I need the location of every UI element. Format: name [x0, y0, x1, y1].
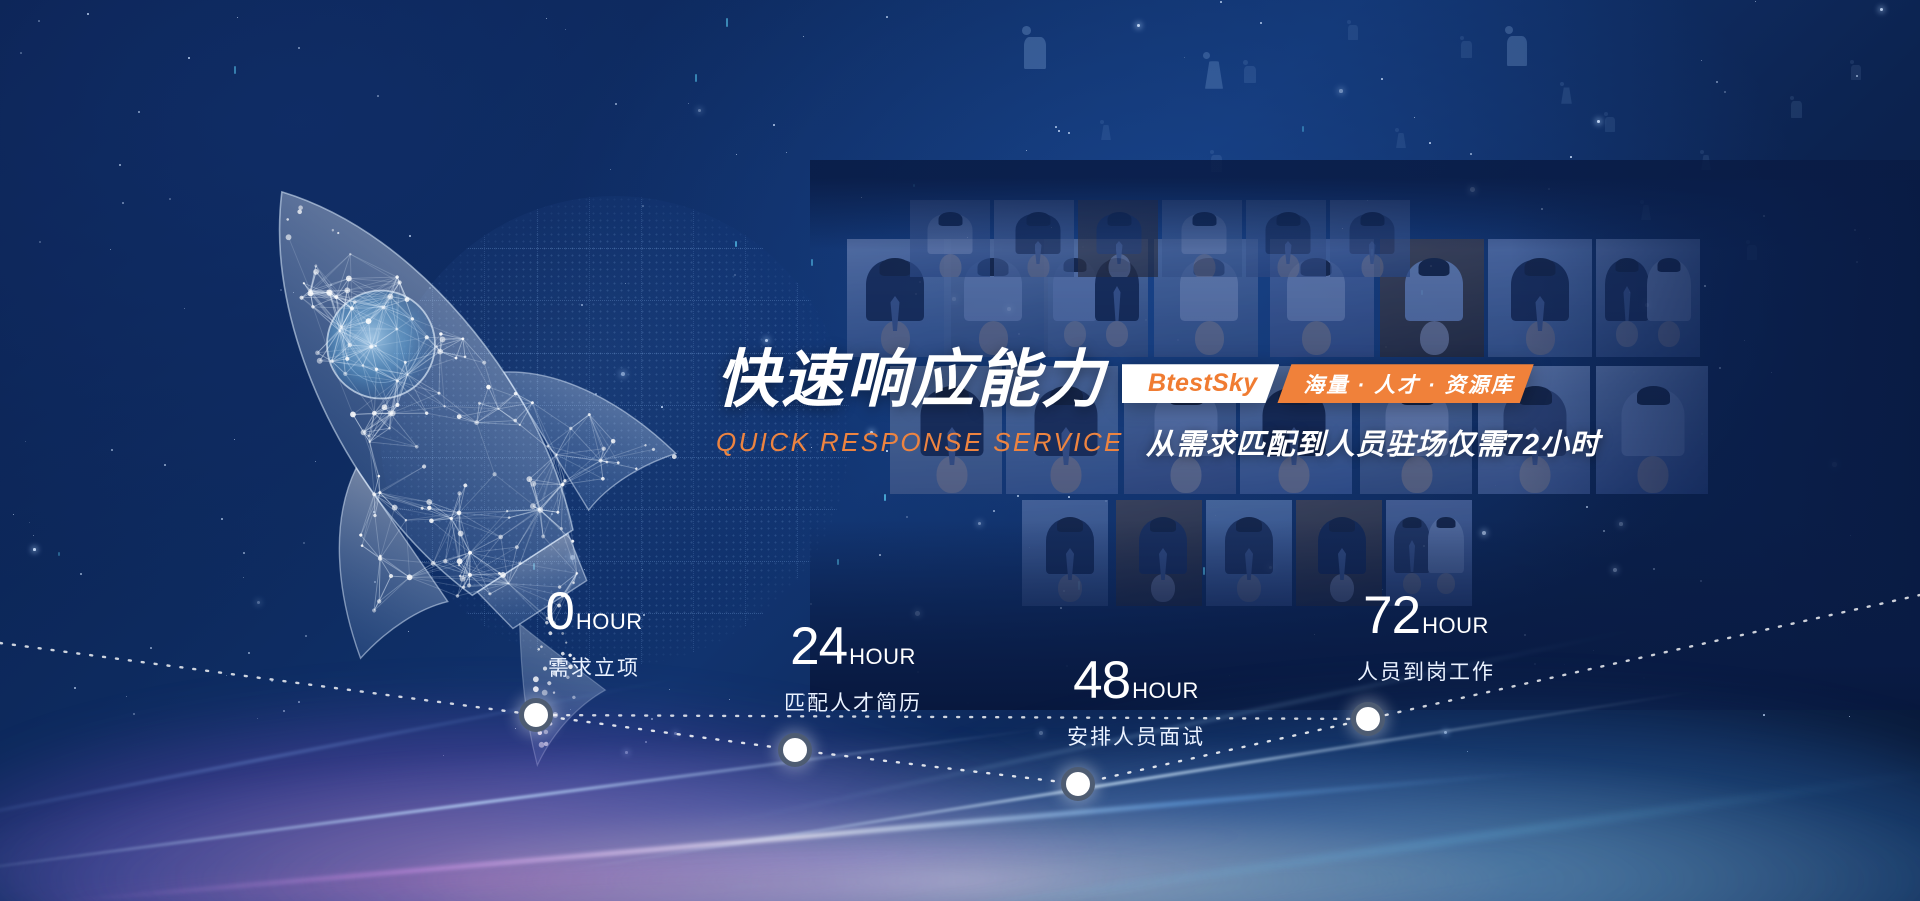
photo-shade	[1488, 239, 1592, 357]
pictogram-head	[1460, 36, 1464, 40]
horizon-glow	[0, 731, 1920, 901]
headline-title-row: 快速响应能力 BtestSky 海量 · 人才 · 资源库	[716, 348, 1716, 412]
pictogram-head	[1100, 120, 1104, 124]
timeline-hour-row: 72HOUR	[1357, 589, 1495, 642]
timeline-node-dot[interactable]	[778, 733, 812, 767]
pictogram-body	[1205, 61, 1223, 89]
talent-photo-tile	[1022, 500, 1108, 606]
pictogram-head	[1022, 26, 1031, 35]
timeline-step-description: 安排人员面试	[1067, 721, 1205, 751]
timeline-step-description: 匹配人才简历	[784, 687, 922, 717]
banner-stage: 快速响应能力 BtestSky 海量 · 人才 · 资源库 QUICK RESP…	[0, 0, 1920, 901]
pictogram-body	[1211, 155, 1222, 171]
photo-shade	[1330, 200, 1410, 277]
timeline-node-dot[interactable]	[1351, 702, 1385, 736]
person-pictogram-icon	[1560, 82, 1573, 104]
timeline-hour-row: 24HOUR	[784, 620, 922, 673]
pictogram-body	[1396, 133, 1406, 148]
pictogram-head	[1604, 112, 1608, 116]
photo-shade	[994, 200, 1074, 277]
timeline-step-label: 0HOUR需求立项	[545, 585, 642, 682]
talent-photo-tile	[1330, 200, 1410, 277]
timeline-hour-value: 0	[545, 585, 573, 638]
pictogram-head	[1347, 20, 1351, 24]
pictogram-body	[1701, 155, 1711, 170]
pictogram-body	[1101, 125, 1111, 140]
pictogram-body	[1348, 25, 1358, 40]
timeline-hour-value: 72	[1363, 589, 1420, 642]
person-pictogram-icon	[1604, 112, 1616, 132]
timeline-hour-value: 24	[790, 620, 847, 673]
person-pictogram-icon	[1395, 128, 1407, 148]
person-pictogram-icon	[1850, 60, 1862, 80]
pictogram-head	[1700, 150, 1704, 154]
photo-shade	[1206, 500, 1292, 606]
pictogram-body	[1244, 66, 1255, 84]
photo-shade	[1116, 500, 1202, 606]
pictogram-body	[1605, 117, 1615, 132]
brand-name: BtestSky	[1122, 364, 1279, 403]
brand-badge: BtestSky 海量 · 人才 · 资源库	[1122, 364, 1534, 403]
talent-photo-tile	[910, 200, 990, 277]
page-title: 快速响应能力	[716, 348, 1106, 412]
photo-shade	[1022, 500, 1108, 606]
headline-sub-row: QUICK RESPONSE SERVICE 从需求匹配到人员驻场仅需72小时	[716, 421, 1716, 463]
talent-photo-tile	[1078, 200, 1158, 277]
light-streak	[0, 828, 1322, 901]
pictogram-body	[1507, 36, 1527, 66]
person-pictogram-icon	[1347, 20, 1359, 40]
photo-shade	[1246, 200, 1326, 277]
pictogram-head	[1243, 60, 1248, 65]
photo-shade	[1078, 200, 1158, 277]
timeline-hour-row: 0HOUR	[545, 585, 642, 638]
timeline-node-dot[interactable]	[1061, 767, 1095, 801]
light-streak	[192, 863, 1292, 901]
person-pictogram-icon	[1700, 150, 1712, 170]
pictogram-head	[1210, 150, 1214, 154]
pictogram-head	[1790, 96, 1794, 100]
talent-photo-tile	[1596, 239, 1700, 357]
pictogram-head	[1505, 26, 1513, 34]
timeline-step-label: 48HOUR安排人员面试	[1067, 654, 1205, 751]
talent-photo-tile	[1162, 200, 1242, 277]
talent-photo-tile	[1488, 239, 1592, 357]
timeline-step-description: 需求立项	[545, 652, 642, 682]
timeline-hour-value: 48	[1073, 654, 1130, 707]
light-streak	[769, 846, 1666, 901]
photo-shade	[910, 200, 990, 277]
brand-tagline: 海量 · 人才 · 资源库	[1277, 364, 1533, 403]
timeline-node-dot[interactable]	[519, 698, 553, 732]
pictogram-head	[1395, 128, 1399, 132]
person-pictogram-icon	[1022, 26, 1048, 69]
person-pictogram-icon	[1505, 26, 1529, 66]
timeline-hour-unit: HOUR	[1132, 678, 1199, 704]
timeline-hour-unit: HOUR	[576, 609, 643, 635]
timeline-step-label: 72HOUR人员到岗工作	[1357, 589, 1495, 686]
headline-english: QUICK RESPONSE SERVICE	[716, 427, 1124, 458]
pictogram-head	[1850, 60, 1854, 64]
person-pictogram-icon	[1243, 60, 1257, 83]
headline-block: 快速响应能力 BtestSky 海量 · 人才 · 资源库 QUICK RESP…	[716, 348, 1716, 463]
timeline-hour-unit: HOUR	[849, 644, 916, 670]
person-pictogram-icon	[1203, 52, 1225, 89]
pictogram-body	[1024, 37, 1045, 70]
talent-photo-tile	[1246, 200, 1326, 277]
timeline-hour-unit: HOUR	[1422, 613, 1489, 639]
pictogram-head	[1560, 82, 1564, 86]
photo-shade	[1596, 239, 1700, 357]
talent-photo-tile	[1116, 500, 1202, 606]
pictogram-body	[1461, 41, 1472, 57]
headline-subtitle: 从需求匹配到人员驻场仅需72小时	[1146, 421, 1600, 463]
pictogram-body	[1851, 65, 1861, 80]
talent-photo-tile	[1206, 500, 1292, 606]
timeline-step-label: 24HOUR匹配人才简历	[784, 620, 922, 717]
light-streak	[888, 764, 1920, 901]
pictogram-body	[1561, 87, 1572, 103]
person-pictogram-icon	[1100, 120, 1112, 140]
person-pictogram-icon	[1210, 150, 1223, 172]
timeline-hour-row: 48HOUR	[1067, 654, 1205, 707]
pictogram-head	[1203, 52, 1210, 59]
light-streak	[0, 725, 1060, 882]
pictogram-body	[1791, 101, 1802, 117]
talent-photo-tile	[994, 200, 1074, 277]
person-pictogram-icon	[1790, 96, 1803, 118]
photo-shade	[1162, 200, 1242, 277]
person-pictogram-icon	[1460, 36, 1473, 58]
light-streak	[41, 769, 1556, 901]
timeline-step-description: 人员到岗工作	[1357, 656, 1495, 686]
